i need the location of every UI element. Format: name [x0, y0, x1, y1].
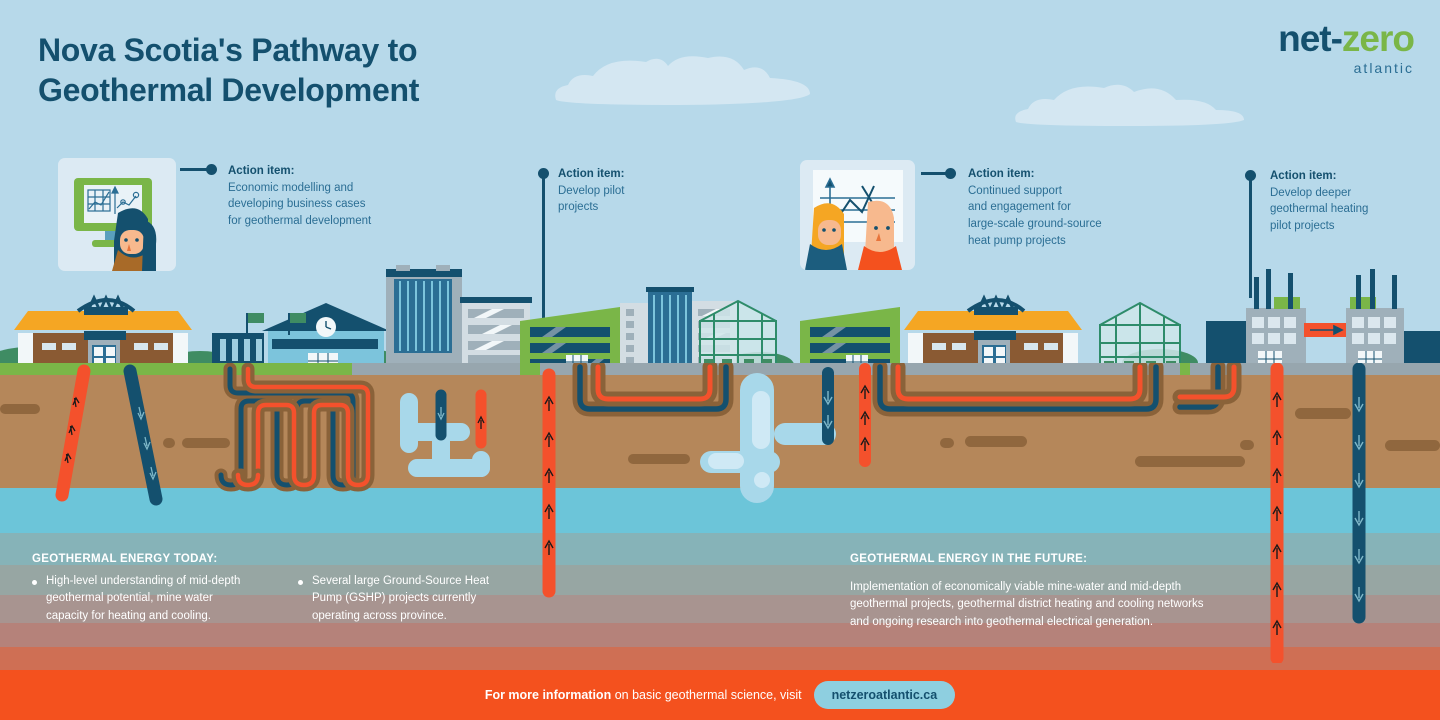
deep-hot-well-right-centre [861, 369, 869, 461]
action-item-2: Action item: Develop pilot projects [558, 166, 758, 216]
action-item-4-body: Develop deeper geothermal heating pilot … [1270, 185, 1440, 235]
action-item-1-label: Action item: [228, 163, 428, 180]
deep-hot-well-centre [545, 375, 553, 591]
action-item-1: Action item: Economic modelling and deve… [228, 163, 428, 230]
action-item-3-label: Action item: [968, 166, 1158, 183]
footer-lead: For more information [485, 688, 611, 702]
action-item-3-body: Continued support and engagement for lar… [968, 183, 1158, 250]
connector-dot-1 [206, 164, 217, 175]
footer-rest: on basic geothermal science, visit [611, 688, 801, 702]
logo-net-text: net [1278, 18, 1331, 59]
district-well-hot-1 [478, 395, 484, 443]
connector-dot-2 [538, 168, 549, 179]
connector-dot-3 [945, 168, 956, 179]
illustration-card-stakeholder-engagement [800, 160, 915, 270]
section-heading-today: GEOTHERMAL ENERGY TODAY: [32, 553, 217, 565]
section-today-bullet-1: High-level understanding of mid-depth ge… [46, 573, 296, 625]
action-item-2-body: Develop pilot projects [558, 183, 758, 216]
footer-text: For more information on basic geothermal… [485, 688, 802, 702]
bullet-point [298, 580, 303, 585]
city-skyline [0, 255, 1440, 375]
footer-bar: For more information on basic geothermal… [0, 670, 1440, 720]
section-heading-future: GEOTHERMAL ENERGY IN THE FUTURE: [850, 553, 1087, 565]
mine-water-cold-well [130, 371, 156, 499]
deep-hot-well-far-right [1273, 369, 1281, 658]
connector-dot-4 [1245, 170, 1256, 181]
section-future-body: Implementation of economically viable mi… [850, 579, 1270, 631]
action-item-3: Action item: Continued support and engag… [968, 166, 1158, 249]
action-item-4-label: Action item: [1270, 168, 1440, 185]
logo: net-zero atlantic [1278, 20, 1414, 76]
cloud-icon [1010, 80, 1250, 128]
district-well-cold-1 [438, 395, 444, 435]
action-item-4: Action item: Develop deeper geothermal h… [1270, 168, 1440, 235]
section-today-bullet-2: Several large Ground-Source Heat Pump (G… [312, 573, 562, 625]
infographic-canvas: Nova Scotia's Pathway to Geothermal Deve… [0, 0, 1440, 720]
action-item-2-label: Action item: [558, 166, 758, 183]
mine-water-hot-well [62, 371, 84, 495]
logo-subtitle: atlantic [1278, 60, 1414, 76]
logo-wordmark: net-zero [1278, 20, 1414, 57]
website-link-pill[interactable]: netzeroatlantic.ca [814, 681, 956, 709]
action-item-1-body: Economic modelling and developing busine… [228, 180, 428, 230]
logo-dash: - [1331, 18, 1342, 59]
page-title: Nova Scotia's Pathway to Geothermal Deve… [38, 30, 598, 110]
district-well-cold-2 [824, 373, 832, 439]
deep-cold-well-far-right [1355, 369, 1363, 617]
logo-zero-text: zero [1342, 18, 1414, 59]
bullet-point [32, 580, 37, 585]
